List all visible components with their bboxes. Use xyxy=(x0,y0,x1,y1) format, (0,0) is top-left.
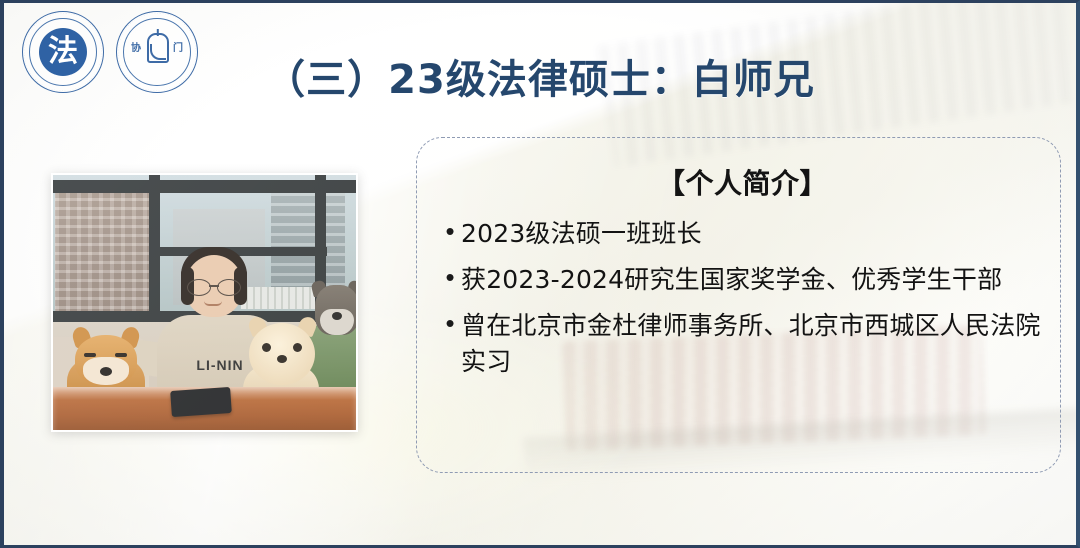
profile-photo: LI-NIN xyxy=(53,175,356,430)
list-item-label: 获2023-2024研究生国家奖学金、优秀学生干部 xyxy=(461,262,1002,298)
list-item-label: 曾在北京市金杜律师事务所、北京市西城区人民法院实习 xyxy=(461,308,1046,380)
bullet-marker-icon: • xyxy=(439,308,461,338)
list-item: • 曾在北京市金杜律师事务所、北京市西城区人民法院实习 xyxy=(439,308,1046,380)
presentation-slide: 法 协 门 （三）23级法律硕士：白师兄 xyxy=(0,0,1080,548)
slide-title: （三）23级法律硕士：白师兄 xyxy=(4,47,1076,105)
bullet-marker-icon: • xyxy=(439,216,461,246)
list-item: • 2023级法硕一班班长 xyxy=(439,216,1046,252)
profile-photo-frame: LI-NIN xyxy=(51,173,358,432)
profile-info-panel: 【个人简介】 • 2023级法硕一班班长 • 获2023-2024研究生国家奖学… xyxy=(416,137,1061,473)
bullet-marker-icon: • xyxy=(439,262,461,292)
list-item-label: 2023级法硕一班班长 xyxy=(461,216,702,252)
info-panel-heading: 【个人简介】 xyxy=(439,162,1046,202)
list-item: • 获2023-2024研究生国家奖学金、优秀学生干部 xyxy=(439,262,1046,298)
profile-bullet-list: • 2023级法硕一班班长 • 获2023-2024研究生国家奖学金、优秀学生干… xyxy=(439,216,1046,380)
photo-color-wash xyxy=(53,175,356,430)
